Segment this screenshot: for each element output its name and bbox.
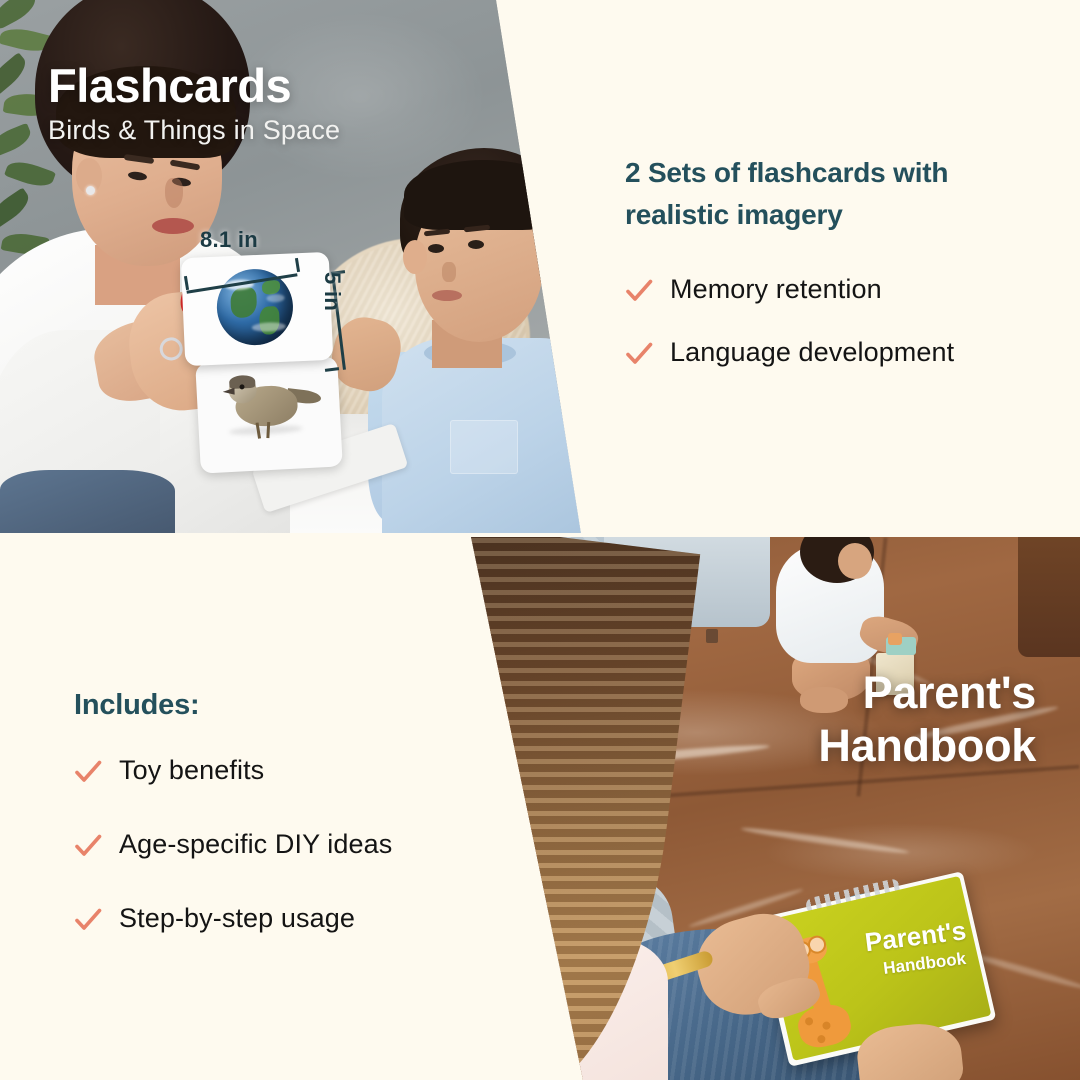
child-hair-front xyxy=(404,160,564,230)
flashcards-title: Flashcards xyxy=(48,62,291,109)
flashcards-scene: 8.1 in 5 in Flashcards Birds & Things in… xyxy=(0,0,600,534)
list-item-label: Toy benefits xyxy=(119,755,264,786)
check-icon xyxy=(625,340,653,368)
list-item: Step-by-step usage xyxy=(74,903,392,934)
toddler-face xyxy=(838,543,872,579)
flashcards-subtitle: Birds & Things in Space xyxy=(48,116,340,146)
flashcard-bird xyxy=(195,356,343,473)
list-item: Language development xyxy=(625,337,1060,368)
handbook-title-line2: Handbook xyxy=(818,720,1036,771)
width-dimension-label: 8.1 in xyxy=(200,227,258,253)
flashcards-photo: 8.1 in 5 in Flashcards Birds & Things in… xyxy=(0,0,600,534)
wooden-furniture xyxy=(1018,537,1080,657)
flashcard-earth xyxy=(181,252,334,366)
list-item-label: Memory retention xyxy=(670,274,882,305)
list-item: Age-specific DIY ideas xyxy=(74,829,392,860)
list-item-label: Step-by-step usage xyxy=(119,903,355,934)
check-icon xyxy=(74,906,102,934)
benefits-list: Memory retention Language development xyxy=(625,274,1060,368)
check-icon xyxy=(625,277,653,305)
list-item-label: Language development xyxy=(670,337,954,368)
check-icon xyxy=(74,758,102,786)
includes-panel: Includes: Toy benefits Age-specific DIY … xyxy=(0,537,540,1080)
earring-icon xyxy=(86,186,95,195)
list-item: Memory retention xyxy=(625,274,1060,305)
benefits-panel: 2 Sets of flashcards with realistic imag… xyxy=(600,60,1060,400)
infographic-canvas: 8.1 in 5 in Flashcards Birds & Things in… xyxy=(0,0,1080,1080)
check-icon xyxy=(74,832,102,860)
adult-lips xyxy=(152,218,194,234)
includes-heading: Includes: xyxy=(74,689,200,722)
adult-nose xyxy=(165,178,183,208)
list-item: Toy benefits xyxy=(74,755,392,786)
benefits-heading: 2 Sets of flashcards with realistic imag… xyxy=(625,152,1025,236)
list-item-label: Age-specific DIY ideas xyxy=(119,829,392,860)
height-dimension-label: 5 in xyxy=(319,272,345,311)
handbook-title-line1: Parent's xyxy=(863,667,1036,718)
adult-jeans xyxy=(0,470,175,534)
child-pocket xyxy=(450,420,518,474)
handbook-title: Parent's Handbook xyxy=(818,666,1036,772)
toy-block xyxy=(888,633,902,645)
includes-list: Toy benefits Age-specific DIY ideas Step… xyxy=(74,755,392,977)
